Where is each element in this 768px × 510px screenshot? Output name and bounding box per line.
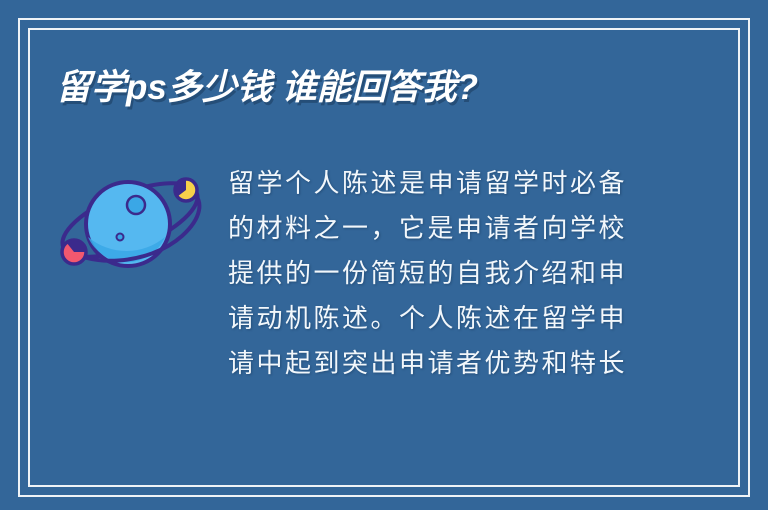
page-title: 留学ps多少钱 谁能回答我? xyxy=(56,66,478,110)
planet-crater-large xyxy=(127,196,145,214)
moon-pink xyxy=(62,240,86,264)
planet-crater-small xyxy=(117,234,124,241)
body-line: 留学个人陈述是申请留学时必备 xyxy=(228,162,668,207)
moon-yellow xyxy=(175,179,197,201)
planet-illustration xyxy=(52,160,212,290)
body-line: 的材料之一，它是申请者向学校 xyxy=(228,207,668,252)
body-line: 请中起到突出申请者优势和特长 xyxy=(228,342,668,387)
body-line: 请动机陈述。个人陈述在留学申 xyxy=(228,297,668,342)
body-paragraph: 留学个人陈述是申请留学时必备 的材料之一，它是申请者向学校 提供的一份简短的自我… xyxy=(228,162,668,387)
poster-canvas: 留学ps多少钱 谁能回答我? 留学个人陈 xyxy=(0,0,768,510)
body-line: 提供的一份简短的自我介绍和申 xyxy=(228,252,668,297)
planet-svg xyxy=(52,160,212,290)
